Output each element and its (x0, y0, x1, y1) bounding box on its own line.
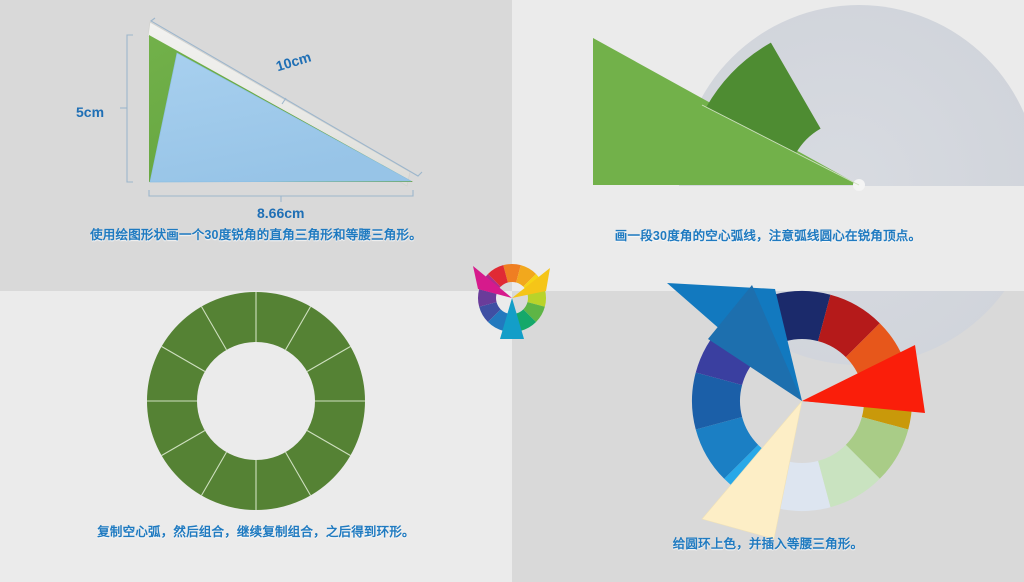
panel-triangles: 5cm 8.66cm 10cm (0, 0, 512, 291)
height-dimension-label: 5cm (76, 104, 104, 120)
color-wheel-logo (466, 255, 558, 347)
panel-arc (512, 0, 1024, 291)
green-donut-ring (147, 292, 365, 510)
caption-panel-triangles: 使用绘图形状画一个30度锐角的直角三角形和等腰三角形。 (0, 228, 512, 244)
slide-canvas: 5cm 8.66cm 10cm (0, 0, 1024, 582)
height-dimension-bracket (120, 35, 133, 182)
caption-panel-colorwheel: 给圆环上色，并插入等腰三角形。 (512, 537, 1024, 553)
caption-panel-arc: 画一段30度角的空心弧线，注意弧线圆心在锐角顶点。 (512, 229, 1024, 245)
logo-graphic (466, 255, 558, 347)
caption-panel-ring: 复制空心弧，然后组合，继续复制组合，之后得到环形。 (0, 525, 512, 541)
panel-triangles-graphic (0, 0, 512, 291)
base-dimension-bracket (149, 190, 413, 202)
base-dimension-label: 8.66cm (257, 205, 304, 221)
panel-arc-graphic (512, 0, 1024, 291)
